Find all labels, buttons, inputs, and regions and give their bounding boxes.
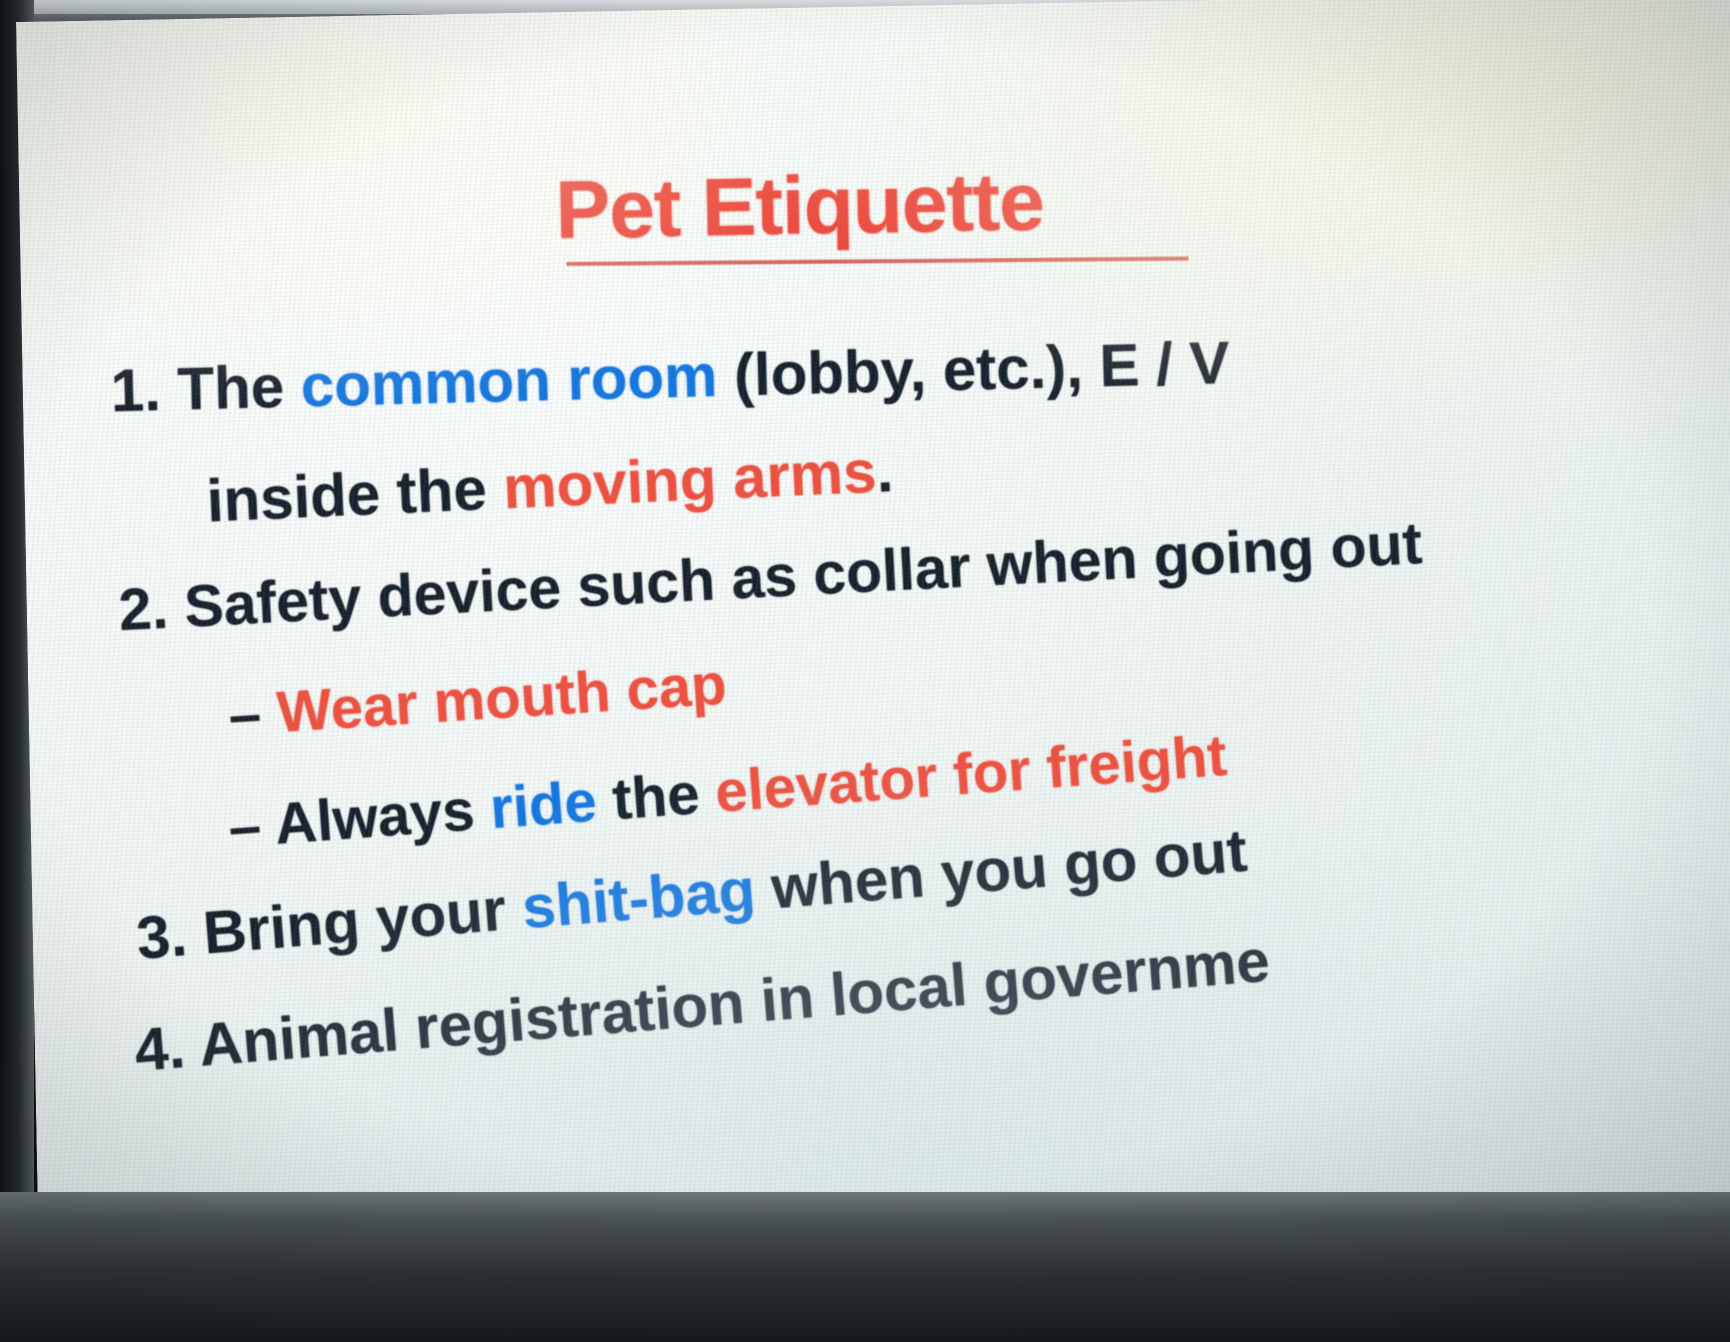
highlight-shit-bag: shit-bag	[520, 856, 758, 941]
title-underline	[567, 257, 1189, 266]
list-item-1-line-1: 1. The common room (lobby, etc.), E / V	[110, 328, 1230, 425]
sub-item-2-text-a: Always	[273, 776, 493, 856]
sub-item-2-text-b: the	[594, 760, 718, 833]
list-item-1-number: 1.	[110, 356, 162, 424]
list-item-1-text-c: inside the	[205, 454, 504, 534]
dash-bullet-icon: –	[227, 681, 263, 748]
list-item-3-text-a: Bring your	[201, 874, 525, 966]
monitor-bezel-bottom	[0, 1192, 1730, 1342]
highlight-ride: ride	[488, 769, 599, 842]
list-item-1-line-2: inside the moving arms.	[205, 436, 894, 535]
list-item-1-period: .	[875, 437, 895, 505]
list-item-1-text-b: (lobby, etc.), E / V	[716, 329, 1230, 409]
list-item-1-text-a: The	[177, 353, 302, 423]
dash-bullet-icon: –	[226, 793, 263, 860]
page-title: Pet Etiquette	[19, 145, 1580, 268]
photo-of-screen: Pet Etiquette 1. The common room (lobby,…	[0, 0, 1730, 1342]
presentation-slide: Pet Etiquette 1. The common room (lobby,…	[16, 0, 1730, 1242]
highlight-elevator-for-freight: elevator for freight	[713, 723, 1229, 825]
sub-item-1: – Wear mouth cap	[227, 651, 729, 750]
highlight-moving-arms: moving arms	[502, 438, 878, 522]
list-item-4-number: 4.	[132, 1013, 187, 1084]
list-item-3-text-b: when you go out	[752, 817, 1249, 923]
list-item-3-number: 3.	[134, 901, 189, 972]
monitor-screen: Pet Etiquette 1. The common room (lobby,…	[16, 0, 1730, 1242]
sub-item-1-text: Wear mouth cap	[275, 652, 728, 746]
list-item-2-text: Safety device such as collar when going …	[183, 510, 1424, 640]
highlight-common-room: common room	[300, 342, 718, 420]
list-item-2-number: 2.	[117, 575, 170, 643]
